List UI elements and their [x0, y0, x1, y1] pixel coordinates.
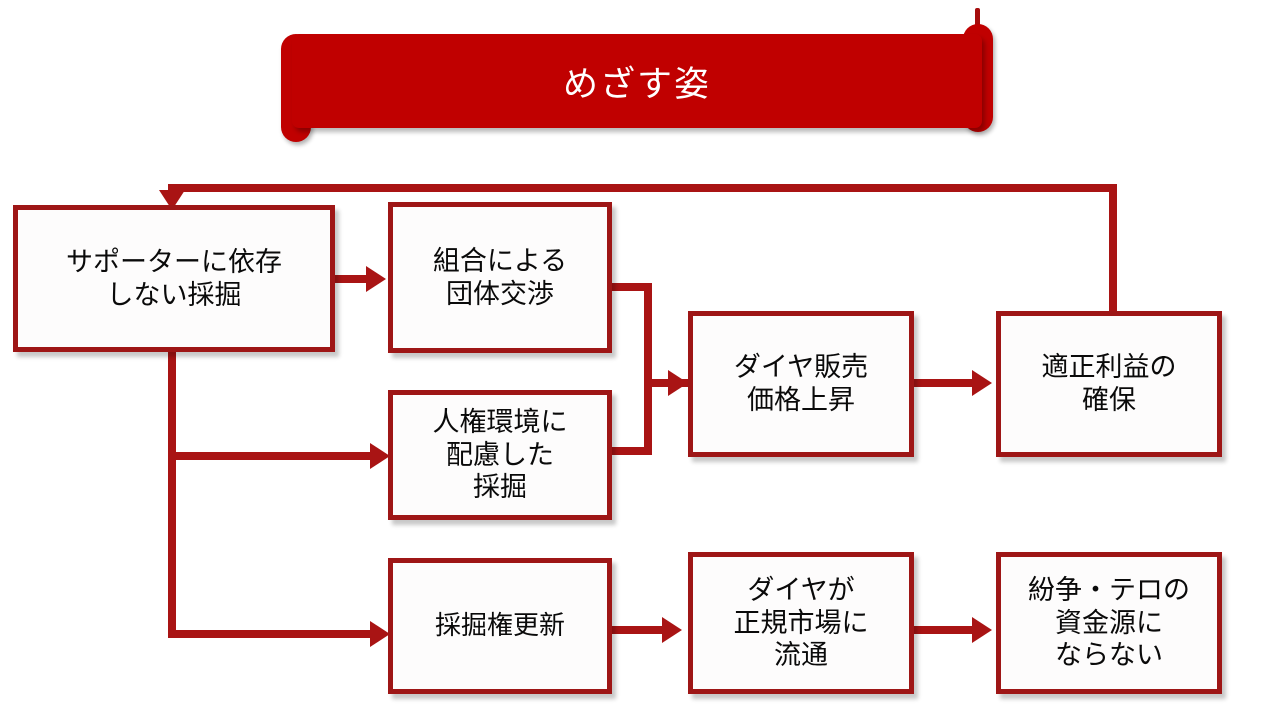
edge-n5-to-n1-vertical-right	[1109, 184, 1117, 312]
banner-title: めざす姿	[292, 34, 982, 128]
node-support-free-mining[interactable]: サポーターに依存 しない採掘	[13, 205, 335, 352]
node-label: ダイヤが 正規市場に 流通	[734, 574, 869, 673]
header-banner: めざす姿	[281, 8, 993, 140]
node-label: ダイヤ販売 価格上昇	[734, 351, 868, 417]
node-label: 組合による 団体交渉	[433, 245, 567, 311]
edge-n1-to-n3-arrowhead	[370, 443, 390, 469]
edge-n7-to-n8-arrowhead	[972, 617, 992, 643]
edge-n1-to-n3-line	[168, 452, 376, 460]
node-label: 適正利益の 確保	[1042, 351, 1177, 417]
edge-n1-to-n6-line	[168, 630, 376, 638]
node-union-collective-bargaining[interactable]: 組合による 団体交渉	[388, 202, 612, 353]
node-human-rights-mining[interactable]: 人権環境に 配慮した 採掘	[388, 390, 612, 520]
edge-n6-to-n7-line	[610, 626, 668, 634]
edge-n1-to-n2-arrowhead	[366, 266, 386, 292]
edge-n4-to-n5-line	[910, 379, 978, 387]
node-diamond-price-rise[interactable]: ダイヤ販売 価格上昇	[688, 311, 914, 457]
edge-n5-to-n1-horizontal-top	[168, 184, 1117, 192]
edge-n1-bottom-stem	[168, 348, 176, 638]
edge-n3-out-line	[608, 447, 652, 455]
node-diamond-legit-market[interactable]: ダイヤが 正規市場に 流通	[688, 552, 914, 694]
node-label: サポーターに依存 しない採掘	[66, 246, 282, 312]
node-no-conflict-funding[interactable]: 紛争・テロの 資金源に ならない	[996, 552, 1222, 694]
edge-n4-to-n5-arrowhead	[972, 370, 992, 396]
node-label: 紛争・テロの 資金源に ならない	[1028, 574, 1190, 673]
edge-n7-to-n8-line	[912, 626, 978, 634]
edge-n6-to-n7-arrowhead	[662, 617, 682, 643]
node-secure-fair-profit[interactable]: 適正利益の 確保	[996, 311, 1222, 457]
edge-n1-to-n6-arrowhead	[370, 621, 390, 647]
node-label: 人権環境に 配慮した 採掘	[433, 406, 568, 505]
slide-canvas: めざす姿 サポーターに依存 しない採掘 組合による 団体交渉 人権環境に 配慮し…	[0, 0, 1280, 720]
node-label: 採掘権更新	[435, 610, 565, 642]
node-mining-right-renewal[interactable]: 採掘権更新	[388, 558, 612, 694]
edge-merge-to-n4-arrowhead	[668, 370, 688, 396]
edge-merge-vertical-to-n4	[644, 283, 652, 455]
edge-n1-to-n2-line	[332, 275, 370, 283]
